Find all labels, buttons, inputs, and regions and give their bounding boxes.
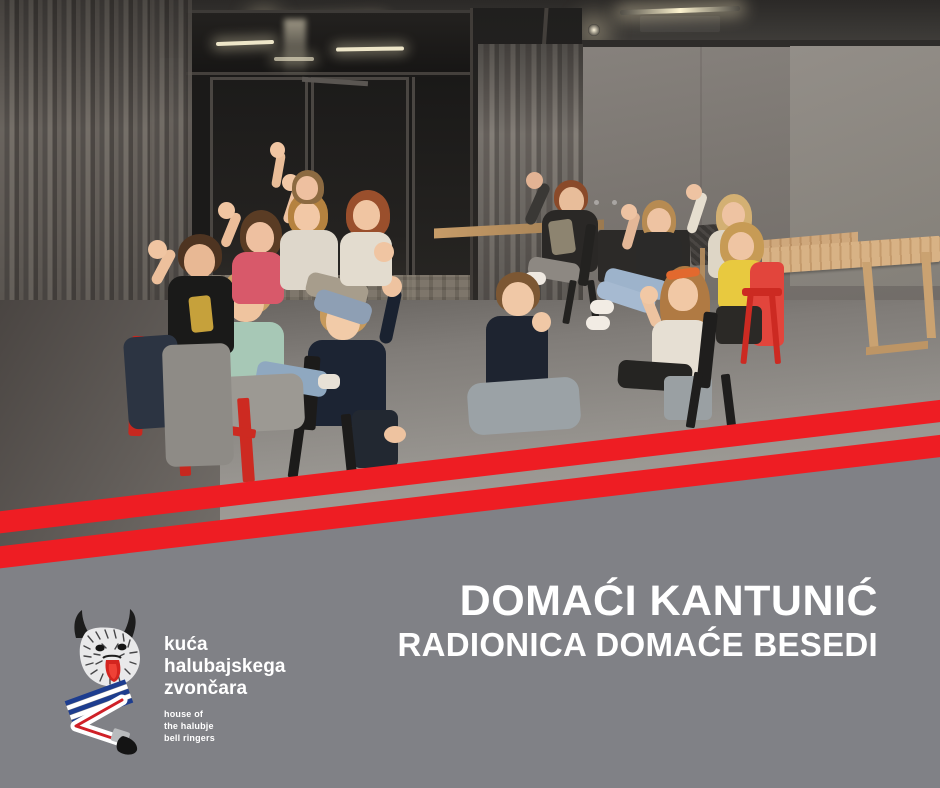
chair-black <box>688 312 754 430</box>
head <box>296 176 318 200</box>
wooden-bench <box>762 236 940 356</box>
draped-grey-cloth <box>162 343 234 467</box>
hand <box>686 184 702 200</box>
head <box>647 208 671 234</box>
page-title: DOMAĆI KANTUNIĆ <box>397 578 878 624</box>
shoe <box>318 374 340 389</box>
hand <box>640 286 658 304</box>
hand <box>532 312 551 332</box>
chair-leg <box>721 374 737 429</box>
logo-name-line-2: halubajskega <box>164 656 286 678</box>
chair-leg <box>237 398 255 483</box>
tube-light-icon <box>274 57 314 61</box>
logo-tagline-line-2: the halubje <box>164 720 286 732</box>
person-boy-dark-shirt <box>474 272 584 432</box>
poster: DOMAĆI KANTUNIĆ RADIONICA DOMAĆE BESEDI <box>0 0 940 788</box>
downlight-icon <box>588 24 600 36</box>
logo-wordmark: kuća halubajskega zvončara house of the … <box>164 634 286 744</box>
logo-tagline-line-1: house of <box>164 708 286 720</box>
logo-name-line-3: zvončara <box>164 678 286 700</box>
head <box>668 278 698 311</box>
ceiling-vent <box>640 16 720 32</box>
chair-leg <box>769 294 781 364</box>
tube-light-icon <box>336 46 404 51</box>
hand <box>270 142 285 158</box>
shoe <box>590 300 614 314</box>
person-girl-back-row <box>246 150 336 260</box>
hand <box>374 242 394 262</box>
hand <box>148 240 167 259</box>
head <box>502 282 534 316</box>
hand <box>218 202 235 219</box>
light-beam <box>284 19 306 77</box>
logo-tagline-line-3: bell ringers <box>164 732 286 744</box>
chair-leg <box>686 372 704 429</box>
logo-block[interactable]: kuća halubajskega zvončara house of the … <box>60 608 310 758</box>
hand <box>526 172 543 189</box>
transom-window <box>186 13 480 75</box>
person-girl-auburn <box>330 190 420 310</box>
tube-light-icon <box>216 40 274 46</box>
bench-leg <box>921 252 936 338</box>
bench-leg <box>862 262 879 350</box>
shoe <box>586 316 610 330</box>
page-subtitle: RADIONICA DOMAĆE BESEDI <box>397 626 878 664</box>
head <box>353 200 380 230</box>
title-block: DOMAĆI KANTUNIĆ RADIONICA DOMAĆE BESEDI <box>397 578 878 664</box>
grey-bag <box>466 376 581 436</box>
hand <box>621 204 637 220</box>
hand <box>384 426 406 443</box>
halubje-bell-ringer-mask-logo-icon <box>60 608 156 756</box>
chair-backrest <box>742 288 782 296</box>
logo-name-line-1: kuća <box>164 634 286 656</box>
head <box>728 232 754 260</box>
